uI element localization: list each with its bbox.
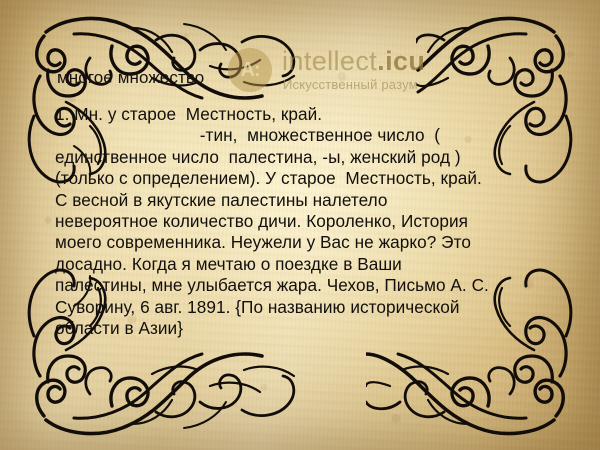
entry-line: досадно. Когда я мечтаю о поездке в Ваши	[55, 254, 547, 275]
dictionary-entry: 1. Мн. у старое Местность, край. -тин, м…	[55, 104, 547, 339]
entry-line: единственное число палестина, -ы, женски…	[55, 147, 547, 168]
entry-line: невероятное количество дичи. Короленко, …	[55, 211, 547, 232]
entry-line: моего современника. Неужели у Вас не жар…	[55, 232, 547, 253]
entry-line: области в Азии}	[55, 318, 547, 339]
entry-line: палестины, мне улыбается жара. Чехов, Пи…	[55, 275, 547, 296]
page-title: многое множество	[57, 68, 204, 88]
entry-line: -тин, множественное число (	[55, 125, 547, 146]
parchment-page: A: intellect.icu Искусственный разум мно…	[0, 0, 600, 450]
entry-line: 1. Мн. у старое Местность, край.	[55, 104, 547, 125]
entry-line: Суворину, 6 авг. 1891. {По названию исто…	[55, 297, 547, 318]
entry-line: С весной в якутские палестины налетело	[55, 190, 547, 211]
document-content: многое множество 1. Мн. у старое Местнос…	[0, 0, 600, 450]
entry-line: (только с определением). У старое Местно…	[55, 168, 547, 189]
